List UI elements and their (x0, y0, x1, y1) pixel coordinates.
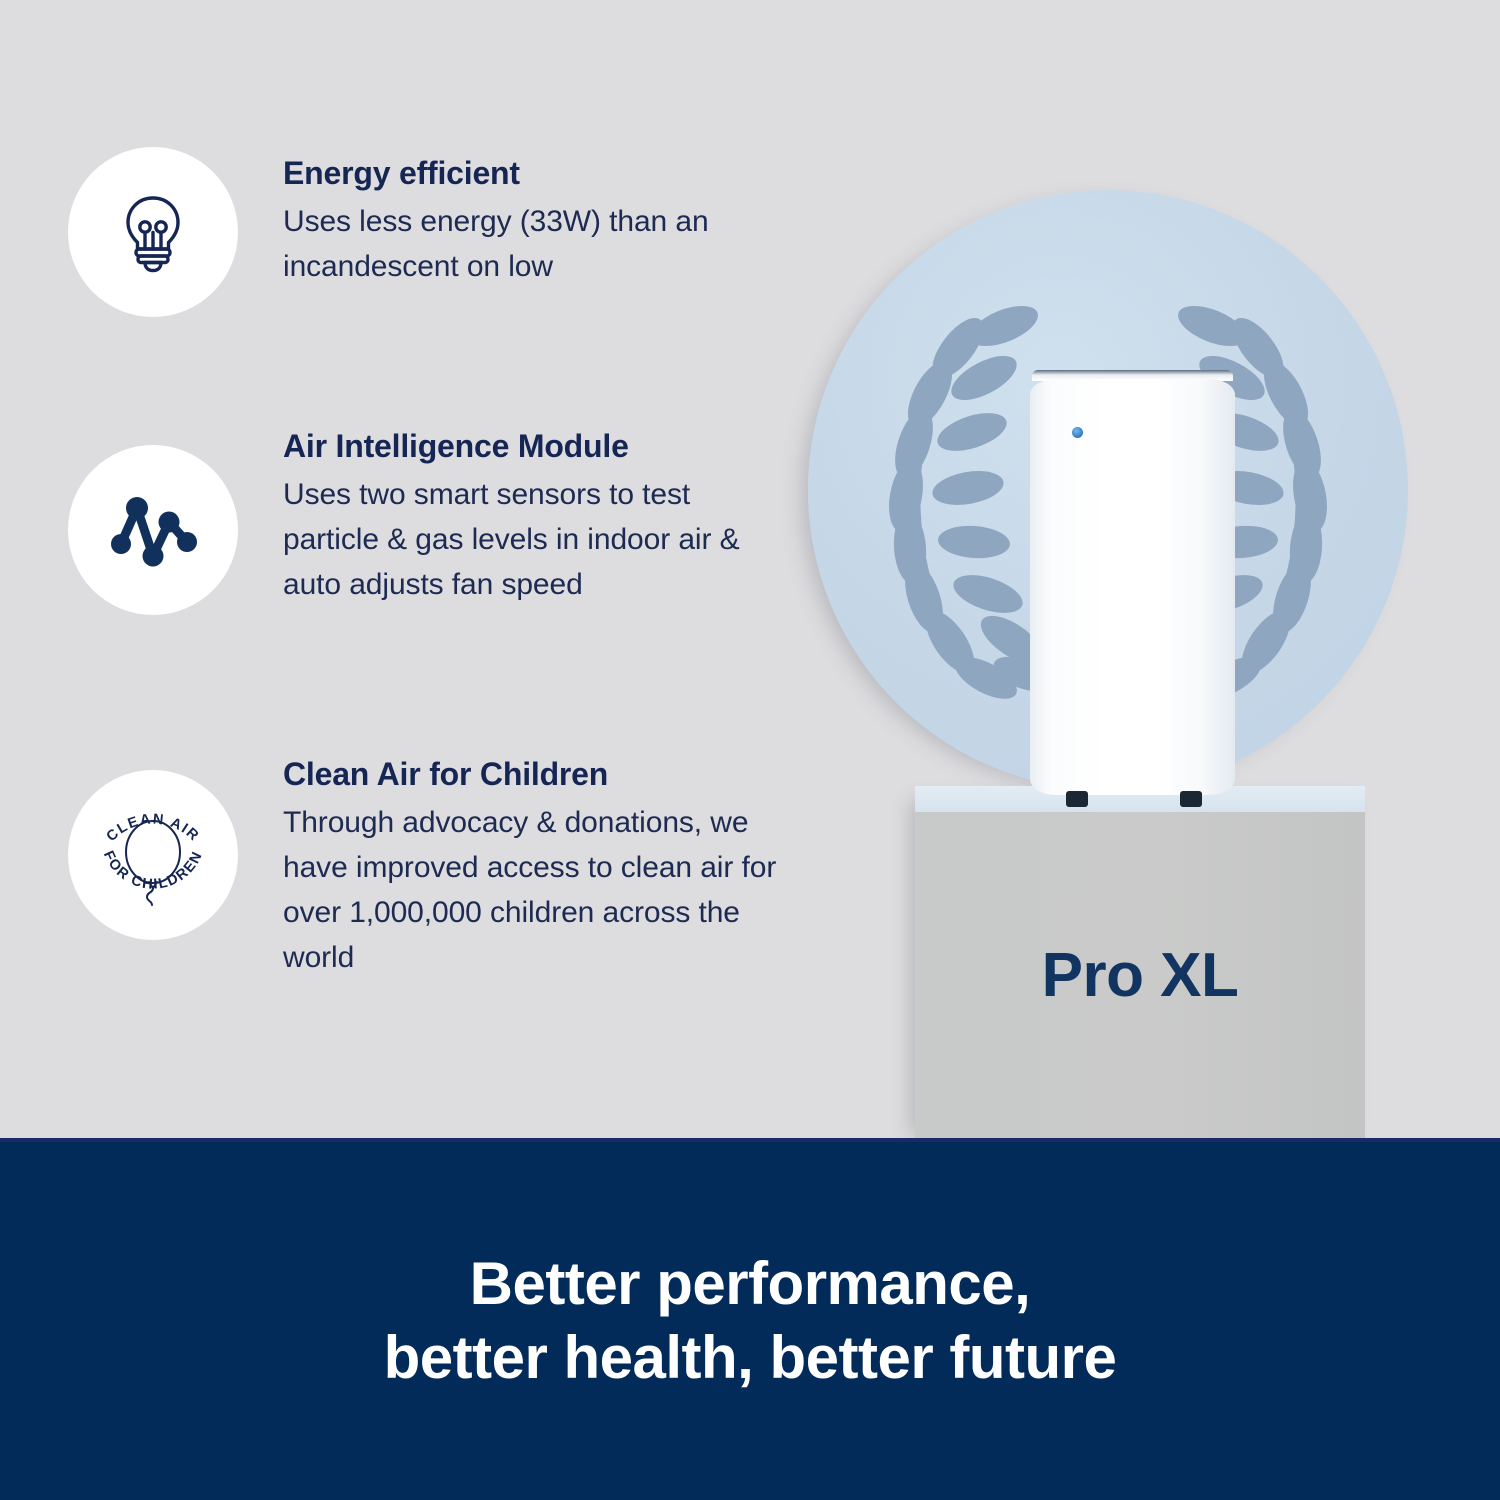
feature-item-air-intelligence-module: Air Intelligence Module Uses two smart s… (68, 420, 788, 615)
feature-item-energy-efficient: Energy efficient Uses less energy (33W) … (68, 147, 788, 317)
clean-air-for-children-badge-icon: CLEAN AIR FOR CHILDREN (78, 780, 228, 930)
line-chart-icon-badge (68, 445, 238, 615)
feature-body: Through advocacy & donations, we have im… (283, 800, 788, 980)
feature-text-block: Energy efficient Uses less energy (33W) … (238, 147, 788, 289)
feature-text-block: Clean Air for Children Through advocacy … (238, 748, 788, 980)
tagline-line-1: Better performance, (384, 1247, 1117, 1321)
clean-air-for-children-badge-icon-badge: CLEAN AIR FOR CHILDREN (68, 770, 238, 940)
feature-body: Uses two smart sensors to test particle … (283, 472, 788, 607)
feature-body: Uses less energy (33W) than an incandesc… (283, 199, 788, 289)
air-purifier-product-image (1030, 370, 1235, 795)
feature-title: Energy efficient (283, 153, 788, 193)
tagline-text: Better performance, better health, bette… (384, 1247, 1117, 1395)
line-chart-icon (103, 484, 203, 576)
tagline-banner: Better performance, better health, bette… (0, 1138, 1500, 1500)
product-feature-infographic: Energy efficient Uses less energy (33W) … (0, 0, 1500, 1500)
product-showcase: Pro XL (790, 150, 1500, 1140)
feature-item-clean-air-for-children: CLEAN AIR FOR CHILDREN Clean Air for Chi… (68, 748, 788, 980)
feature-list: Energy efficient Uses less energy (33W) … (0, 0, 800, 1138)
feature-text-block: Air Intelligence Module Uses two smart s… (238, 420, 788, 607)
lightbulb-icon (107, 186, 199, 278)
lightbulb-icon-badge (68, 147, 238, 317)
blue-led-indicator-icon (1072, 427, 1083, 438)
purifier-foot-left (1066, 791, 1088, 807)
tagline-line-2: better health, better future (384, 1321, 1117, 1395)
product-model-name: Pro XL (915, 940, 1365, 1011)
feature-title: Clean Air for Children (283, 754, 788, 794)
feature-title: Air Intelligence Module (283, 426, 788, 466)
badge-top-text: CLEAN AIR (104, 811, 203, 845)
purifier-foot-right (1180, 791, 1202, 807)
purifier-body (1030, 379, 1235, 795)
